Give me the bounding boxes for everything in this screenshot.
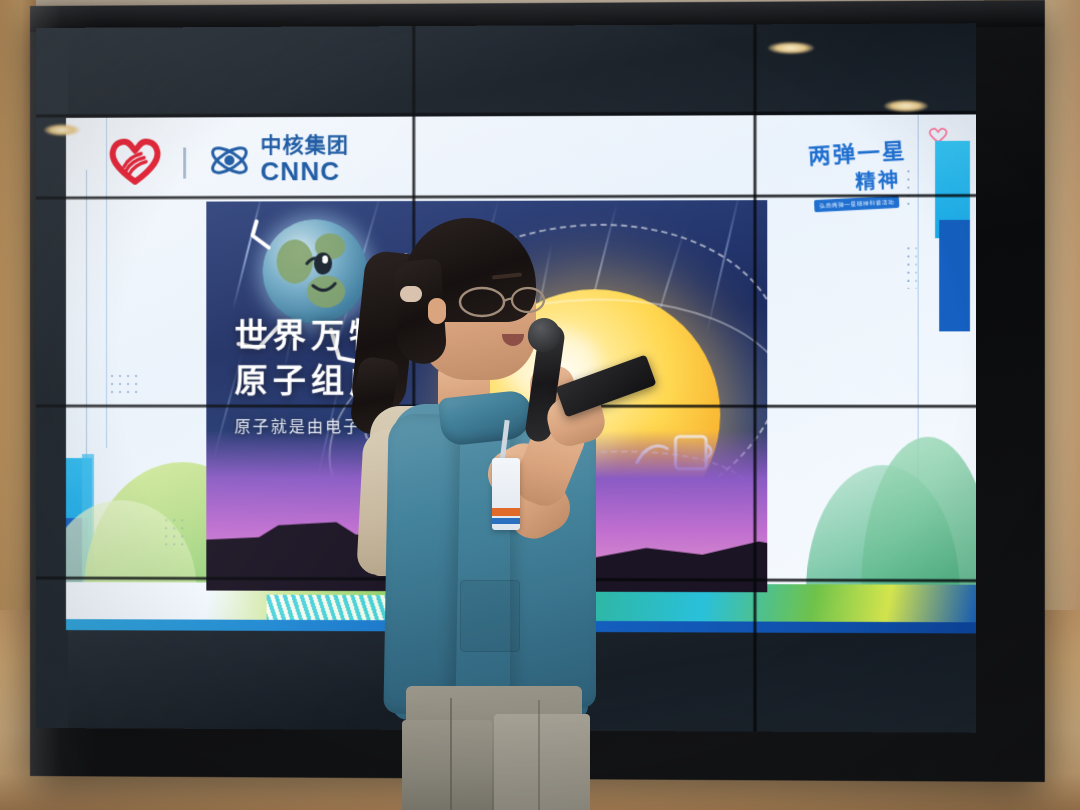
right-dot-grid-b (904, 244, 916, 289)
trouser-crease (538, 700, 540, 810)
left-thin-line-a (106, 118, 107, 448)
cnnc-chinese: 中核集团 (260, 135, 349, 156)
badge-ribbon: 弘扬两弹一星精神科普活动 (814, 196, 900, 213)
id-badge-stripe (492, 508, 520, 516)
panel-top-strip (36, 23, 976, 120)
heart-hand-icon (108, 136, 162, 184)
trouser-leg-right (494, 714, 590, 810)
hill-right-green (861, 437, 976, 589)
presenter (352, 208, 632, 810)
cnnc-latin: CNNC (260, 158, 349, 184)
left-dot-grid (108, 372, 142, 398)
vest-left-panel (383, 413, 460, 714)
atom-icon (207, 139, 251, 181)
ceiling-spot-reflection-c (44, 124, 80, 136)
ceiling-spot-reflection-b (884, 100, 928, 112)
badge-line2: 精神 (854, 161, 942, 195)
ceiling-spot-reflection-a (768, 42, 814, 54)
eyeglasses-icon (458, 282, 548, 322)
left-thin-line-b (86, 170, 87, 470)
two-bombs-one-satellite-badge: 两弹一星 精神 弘扬两弹一星精神科普活动 (808, 135, 941, 194)
right-dot-grid-a (904, 167, 914, 210)
ear (428, 298, 446, 324)
right-blue-block (939, 220, 970, 332)
cnnc-logo: 中核集团 CNNC (207, 135, 349, 185)
logo-divider: | (180, 143, 189, 177)
hill-dot-accent (162, 516, 188, 546)
hair-tie (400, 286, 422, 302)
vest-pocket (460, 580, 520, 652)
slide-logo-row: | 中核集团 CNNC (108, 135, 349, 185)
id-badge-stripe-2 (492, 518, 520, 524)
trouser-leg-left (402, 720, 492, 810)
photo-scene: | 中核集团 CNNC (0, 0, 1080, 810)
trouser-seam (450, 698, 452, 810)
bezel-seam-vertical (753, 24, 757, 731)
